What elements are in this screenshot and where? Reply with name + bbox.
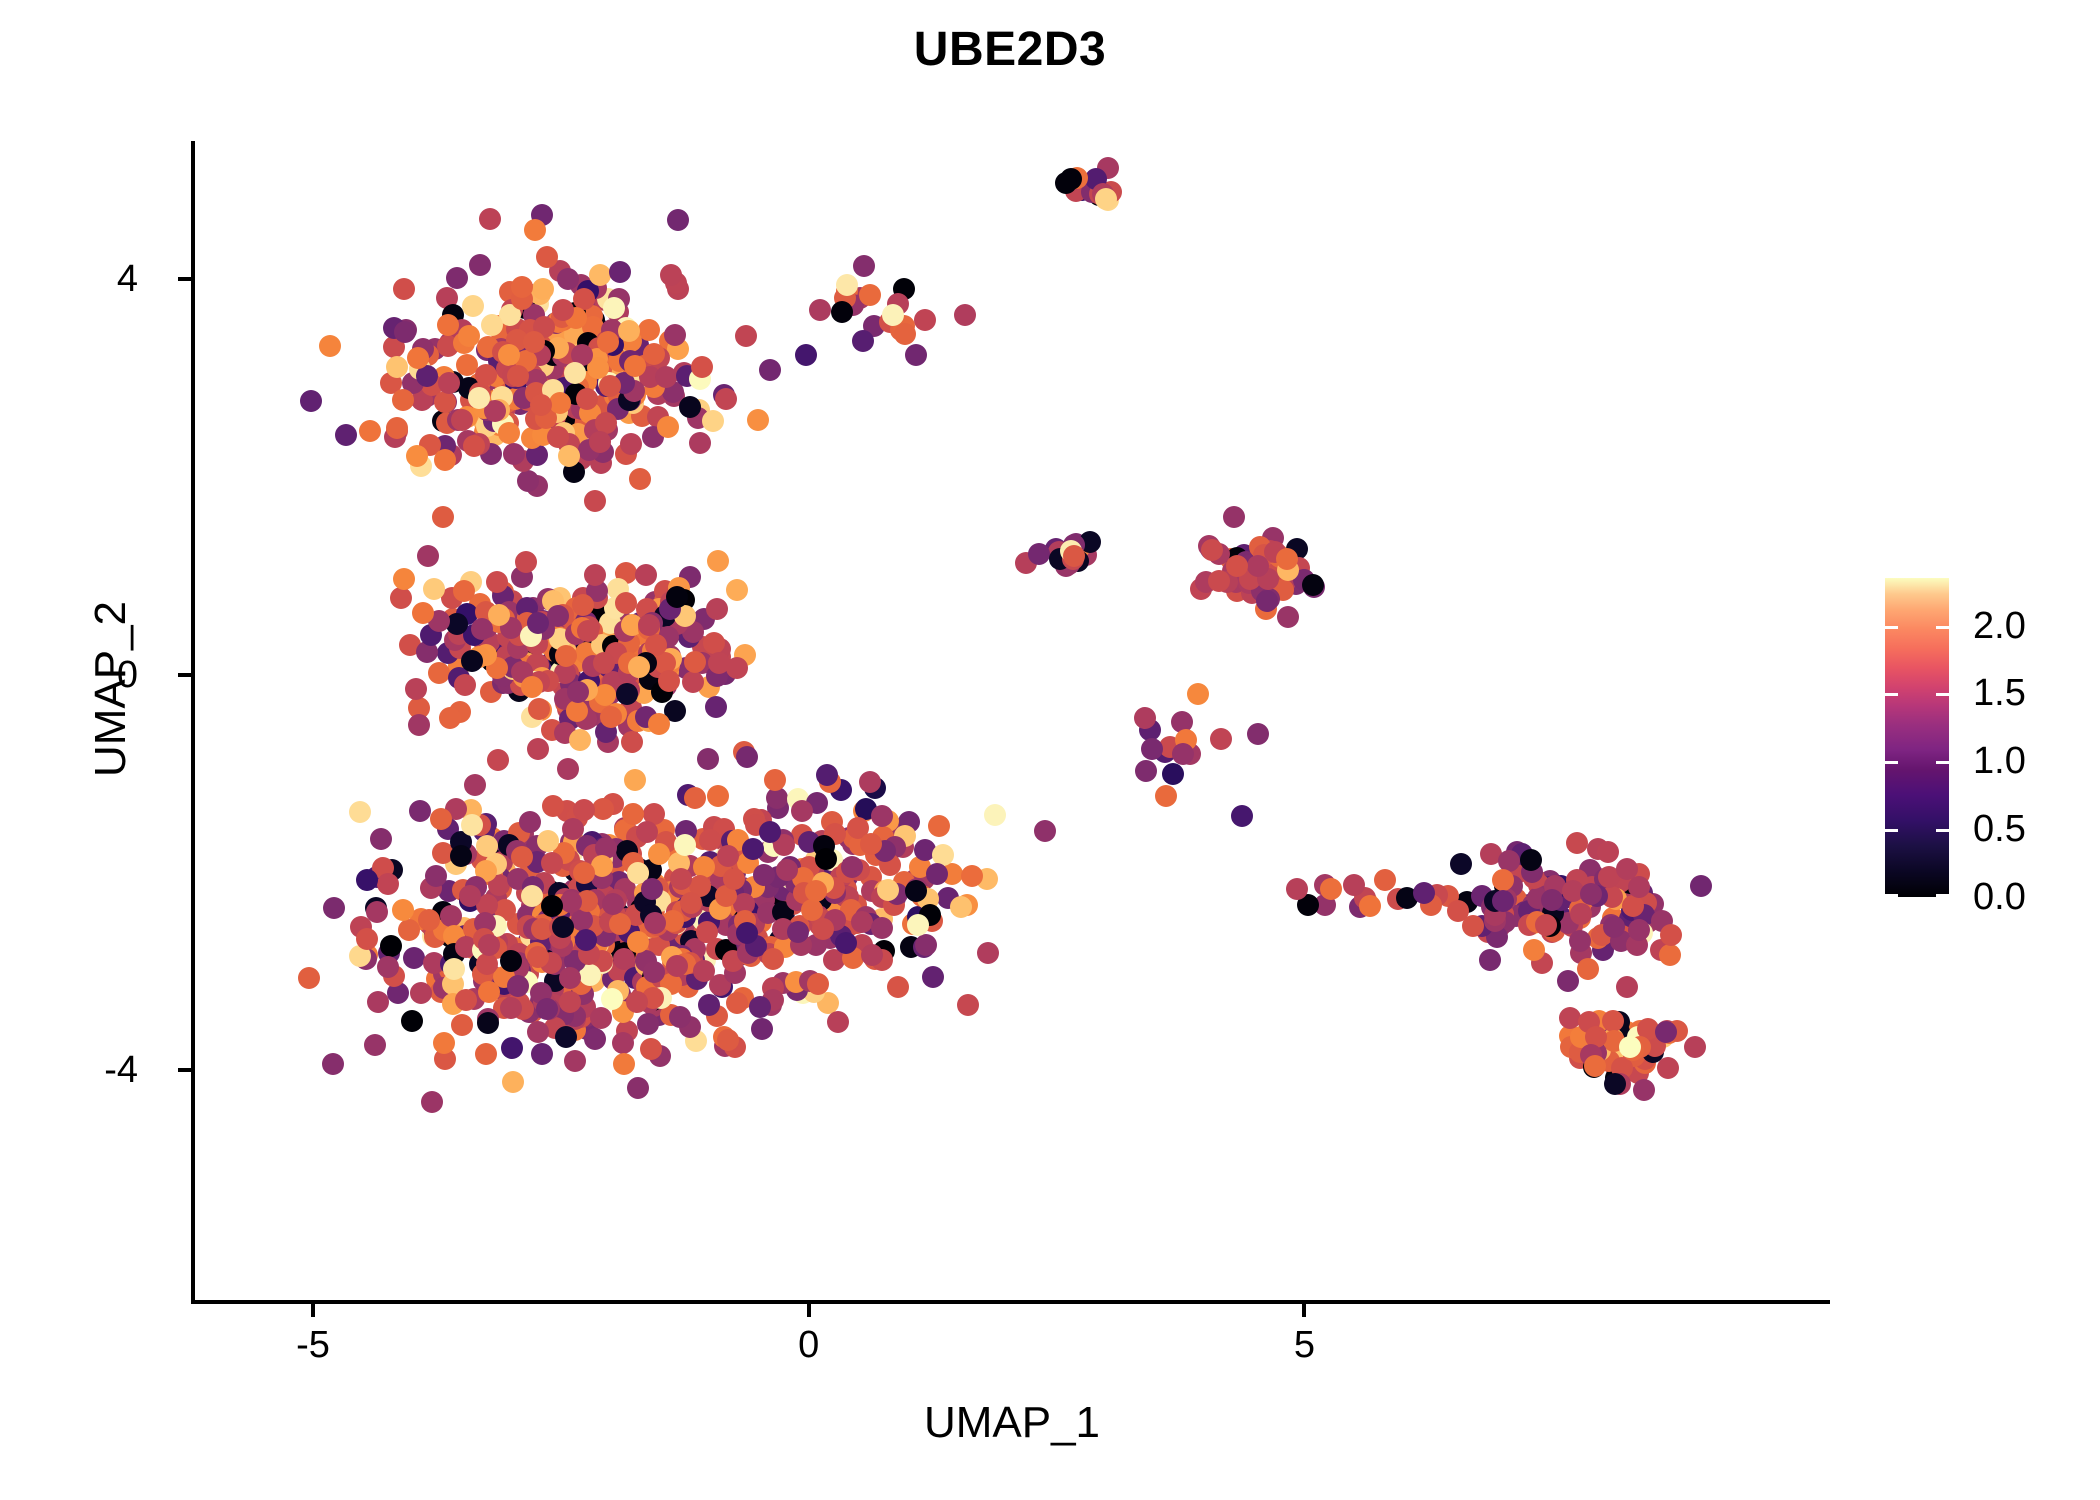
colorbar-tick-label: 1.5 [1973, 674, 2026, 712]
scatter-point [517, 470, 539, 492]
scatter-point [398, 919, 420, 941]
scatter-point [549, 392, 571, 414]
scatter-point [537, 830, 559, 852]
scatter-point [640, 1038, 662, 1060]
plot-panel [194, 141, 1830, 1302]
scatter-point [1479, 949, 1501, 971]
scatter-point [417, 545, 439, 567]
y-tick-mark [178, 673, 191, 677]
scatter-point [696, 921, 718, 943]
scatter-point [1302, 574, 1324, 596]
scatter-point [1450, 853, 1472, 875]
x-axis-title: UMAP_1 [194, 1398, 1830, 1448]
scatter-point [471, 618, 493, 640]
scatter-point [349, 801, 371, 823]
scatter-point [624, 769, 646, 791]
scatter-point [787, 921, 809, 943]
scatter-point [622, 803, 644, 825]
scatter-point [418, 909, 440, 931]
scatter-point [717, 845, 739, 867]
scatter-point [589, 431, 611, 453]
scatter-point [693, 960, 715, 982]
scatter-point [430, 808, 452, 830]
scatter-point [1095, 188, 1117, 210]
scatter-point [511, 276, 533, 298]
scatter-point [459, 885, 481, 907]
scatter-point [950, 896, 972, 918]
scatter-point [621, 731, 643, 753]
y-axis-line [191, 141, 195, 1304]
scatter-point [1231, 805, 1253, 827]
scatter-point [453, 580, 475, 602]
scatter-point [679, 396, 701, 418]
colorbar-tick-label: 0.0 [1973, 878, 2026, 916]
scatter-point [641, 878, 663, 900]
scatter-point [1134, 707, 1156, 729]
colorbar-tick-mark [1885, 761, 1949, 764]
scatter-point [1659, 944, 1681, 966]
scatter-point [682, 671, 704, 693]
scatter-point [423, 578, 445, 600]
scatter-point [1413, 882, 1435, 904]
scatter-point [1256, 590, 1278, 612]
scatter-point [759, 359, 781, 381]
scatter-point [486, 571, 508, 593]
scatter-point [609, 913, 631, 935]
scatter-point [364, 1034, 386, 1056]
scatter-point [1660, 924, 1682, 946]
scatter-point [726, 992, 748, 1014]
scatter-point [699, 829, 721, 851]
scatter-point [1557, 970, 1579, 992]
scatter-point [569, 729, 591, 751]
scatter-point [536, 246, 558, 268]
scatter-point [559, 967, 581, 989]
scatter-point [658, 670, 680, 692]
x-tick-mark [311, 1304, 315, 1317]
scatter-point [562, 818, 584, 840]
scatter-point [1359, 895, 1381, 917]
scatter-point [412, 602, 434, 624]
scatter-point [461, 650, 483, 672]
scatter-point [536, 998, 558, 1020]
colorbar-tick-label: 2.0 [1973, 607, 2026, 645]
scatter-point [558, 445, 580, 467]
scatter-point [705, 696, 727, 718]
scatter-point [408, 714, 430, 736]
scatter-point [841, 856, 863, 878]
umap-feature-plot: UBE2D3 40-4-505 UMAP_1 UMAP_2 2.01.51.00… [0, 0, 2100, 1500]
scatter-point [589, 264, 611, 286]
scatter-point [759, 821, 781, 843]
scatter-point [859, 284, 881, 306]
scatter-point [1034, 820, 1056, 842]
scatter-point [527, 1021, 549, 1043]
scatter-point [515, 551, 537, 573]
scatter-point [547, 605, 569, 627]
scatter-point [1320, 878, 1342, 900]
scatter-point [1162, 763, 1184, 785]
scatter-point [627, 1077, 649, 1099]
scatter-point [1155, 785, 1177, 807]
scatter-point [961, 865, 983, 887]
scatter-point [450, 845, 472, 867]
scatter-point [300, 390, 322, 412]
x-tick-mark [1302, 1304, 1306, 1317]
scatter-point [717, 1029, 739, 1051]
scatter-point [403, 947, 425, 969]
scatter-point [524, 219, 546, 241]
scatter-point [905, 880, 927, 902]
scatter-point [715, 388, 737, 410]
scatter-point [1063, 545, 1085, 567]
scatter-point [438, 372, 460, 394]
scatter-point [323, 897, 345, 919]
scatter-point [428, 662, 450, 684]
scatter-point [1657, 1057, 1679, 1079]
scatter-point [736, 746, 758, 768]
scatter-point [390, 587, 412, 609]
scatter-point [584, 1028, 606, 1050]
scatter-point [507, 365, 529, 387]
scatter-point [827, 1011, 849, 1033]
scatter-point [468, 387, 490, 409]
scatter-point [380, 935, 402, 957]
scatter-point [407, 347, 429, 369]
scatter-point [1541, 889, 1563, 911]
scatter-point [481, 314, 503, 336]
scatter-point [592, 798, 614, 820]
scatter-point [905, 344, 927, 366]
scatter-point [1628, 919, 1650, 941]
scatter-point [667, 209, 689, 231]
scatter-point [451, 1014, 473, 1036]
scatter-point [859, 771, 881, 793]
scatter-point [882, 304, 904, 326]
x-tick-label: 0 [749, 1326, 869, 1364]
scatter-point [666, 586, 688, 608]
scatter-point [1277, 606, 1299, 628]
scatter-point [791, 800, 813, 822]
scatter-point [894, 323, 916, 345]
scatter-point [394, 321, 416, 343]
x-axis-line [194, 1300, 1830, 1304]
scatter-point [600, 706, 622, 728]
scatter-point [613, 948, 635, 970]
scatter-point [684, 787, 706, 809]
scatter-point [1028, 543, 1050, 565]
scatter-point [421, 1091, 443, 1113]
scatter-point [887, 976, 909, 998]
scatter-point [660, 264, 682, 286]
scatter-point [559, 991, 581, 1013]
scatter-point [684, 651, 706, 673]
scatter-point [475, 1043, 497, 1065]
scatter-point [564, 1050, 586, 1072]
x-tick-label: -5 [253, 1326, 373, 1364]
scatter-point [455, 989, 477, 1011]
scatter-point [531, 1043, 553, 1065]
scatter-point [626, 991, 648, 1013]
scatter-point [922, 966, 944, 988]
scatter-point [1684, 1036, 1706, 1058]
scatter-point [615, 592, 637, 614]
scatter-point [521, 885, 543, 907]
scatter-point [1602, 1010, 1624, 1032]
scatter-point [726, 579, 748, 601]
scatter-point [628, 656, 650, 678]
scatter-point [405, 678, 427, 700]
scatter-point [462, 295, 484, 317]
scatter-point [434, 391, 456, 413]
scatter-point [735, 325, 757, 347]
colorbar-tick-label: 1.0 [1973, 742, 2026, 780]
colorbar-tick-mark [1885, 626, 1949, 629]
scatter-point [1135, 760, 1157, 782]
scatter-point [697, 748, 719, 770]
scatter-point [742, 838, 764, 860]
scatter-point [479, 208, 501, 230]
scatter-point [477, 1012, 499, 1034]
scatter-point [410, 982, 432, 1004]
scatter-point [636, 821, 658, 843]
scatter-point [1223, 506, 1245, 528]
scatter-point [1616, 858, 1638, 880]
scatter-point [928, 815, 950, 837]
scatter-point [1276, 548, 1298, 570]
scatter-point [359, 420, 381, 442]
scatter-point [689, 432, 711, 454]
scatter-point [612, 1032, 634, 1054]
scatter-point [464, 774, 486, 796]
scatter-point [392, 389, 414, 411]
scatter-point [440, 905, 462, 927]
scatter-point [425, 865, 447, 887]
page-title: UBE2D3 [0, 22, 2020, 77]
y-tick-mark [178, 1068, 191, 1072]
scatter-point [852, 330, 874, 352]
scatter-point [1633, 1079, 1655, 1101]
scatter-point [454, 674, 476, 696]
scatter-point [557, 268, 579, 290]
colorbar-tick-mark [1885, 693, 1949, 696]
scatter-point [1208, 570, 1230, 592]
scatter-point [957, 994, 979, 1016]
scatter-point [1616, 976, 1638, 998]
scatter-point [644, 912, 666, 934]
scatter-point [555, 645, 577, 667]
scatter-point [915, 934, 937, 956]
scatter-point [498, 422, 520, 444]
scatter-point [1201, 539, 1223, 561]
scatter-point [577, 620, 599, 642]
scatter-point [1492, 890, 1514, 912]
x-tick-label: 5 [1244, 1326, 1364, 1364]
scatter-point [707, 550, 729, 572]
scatter-point [637, 1013, 659, 1035]
scatter-point [1597, 841, 1619, 863]
scatter-point [736, 922, 758, 944]
scatter-point [613, 1053, 635, 1075]
scatter-point [519, 811, 541, 833]
scatter-point [593, 652, 615, 674]
scatter-point [601, 988, 623, 1010]
scatter-point [693, 856, 715, 878]
scatter-point [451, 409, 473, 431]
scatter-point [443, 958, 465, 980]
scatter-point [1619, 1036, 1641, 1058]
scatter-point [629, 468, 651, 490]
scatter-point [648, 843, 670, 865]
scatter-point [831, 301, 853, 323]
scatter-point [1447, 900, 1469, 922]
scatter-point [620, 433, 642, 455]
scatter-point [461, 814, 483, 836]
scatter-point [599, 375, 621, 397]
y-tick-mark [178, 277, 191, 281]
scatter-point [926, 863, 948, 885]
scatter-point [527, 612, 549, 634]
scatter-point [501, 1037, 523, 1059]
scatter-point [836, 274, 858, 296]
scatter-point [618, 320, 640, 342]
scatter-point [747, 409, 769, 431]
scatter-point [555, 1026, 577, 1048]
scatter-point [812, 918, 834, 940]
scatter-point [386, 417, 408, 439]
scatter-point [527, 738, 549, 760]
scatter-point [584, 564, 606, 586]
scatter-point [753, 864, 775, 886]
scatter-point [439, 707, 461, 729]
scatter-point [853, 255, 875, 277]
scatter-point [335, 424, 357, 446]
scatter-point [409, 800, 431, 822]
scatter-point [469, 254, 491, 276]
scatter-point [478, 981, 500, 1003]
scatter-point [434, 449, 456, 471]
scatter-point [706, 598, 728, 620]
scatter-point [657, 416, 679, 438]
scatter-point [432, 506, 454, 528]
scatter-point [392, 899, 414, 921]
scatter-point [487, 749, 509, 771]
scatter-point [984, 804, 1006, 826]
scatter-point [1577, 958, 1599, 980]
scatter-point [1580, 883, 1602, 905]
scatter-point [406, 445, 428, 467]
scatter-point [609, 261, 631, 283]
scatter-point [597, 331, 619, 353]
scatter-point [1187, 683, 1209, 705]
colorbar-tick-label: 0.5 [1973, 810, 2026, 848]
scatter-point [584, 490, 606, 512]
scatter-point [498, 344, 520, 366]
scatter-point [835, 932, 857, 954]
scatter-point [1569, 930, 1591, 952]
scatter-point [1603, 916, 1625, 938]
scatter-point [502, 1071, 524, 1093]
scatter-point [528, 698, 550, 720]
scatter-point [500, 950, 522, 972]
scatter-point [377, 873, 399, 895]
scatter-point [648, 713, 670, 735]
colorbar-tick-mark [1885, 829, 1949, 832]
scatter-point [1141, 738, 1163, 760]
scatter-point [907, 914, 929, 936]
scatter-point [476, 835, 498, 857]
scatter-point [643, 343, 665, 365]
scatter-point [322, 1053, 344, 1075]
scatter-point [298, 967, 320, 989]
scatter-point [1343, 874, 1365, 896]
scatter-point [552, 916, 574, 938]
scatter-point [370, 828, 392, 850]
scatter-point [401, 1010, 423, 1032]
scatter-point [576, 388, 598, 410]
scatter-point [603, 297, 625, 319]
scatter-point [977, 942, 999, 964]
scatter-point [1584, 1055, 1606, 1077]
scatter-point [521, 676, 543, 698]
scatter-point [319, 335, 341, 357]
scatter-point [723, 868, 745, 890]
scatter-point [446, 267, 468, 289]
scatter-point [1566, 832, 1588, 854]
scatter-point [751, 1018, 773, 1040]
scatter-point [669, 1006, 691, 1028]
scatter-point [680, 892, 702, 914]
colorbar-tick-mark [1885, 894, 1949, 897]
scatter-point [702, 410, 724, 432]
scatter-point [954, 304, 976, 326]
scatter-point [674, 834, 696, 856]
scatter-point [393, 278, 415, 300]
scatter-point [914, 309, 936, 331]
scatter-point [1492, 869, 1514, 891]
scatter-point [602, 893, 624, 915]
scatter-point [393, 568, 415, 590]
y-axis-title: UMAP_2 [86, 289, 136, 1089]
scatter-point [871, 805, 893, 827]
scatter-point [707, 785, 729, 807]
scatter-point [762, 948, 784, 970]
scatter-point [503, 443, 525, 465]
scatter-point [795, 344, 817, 366]
scatter-point [463, 435, 485, 457]
scatter-point [557, 758, 579, 780]
scatter-point [552, 299, 574, 321]
scatter-point [807, 973, 829, 995]
scatter-point [861, 944, 883, 966]
scatter-point [809, 299, 831, 321]
scatter-point [488, 604, 510, 626]
scatter-point [532, 278, 554, 300]
scatter-point [635, 564, 657, 586]
scatter-point [367, 991, 389, 1013]
scatter-point [1247, 723, 1269, 745]
x-tick-mark [807, 1304, 811, 1317]
scatter-point [590, 1007, 612, 1029]
scatter-point [1210, 728, 1232, 750]
scatter-point [708, 652, 730, 674]
scatter-point [377, 956, 399, 978]
scatter-point [356, 869, 378, 891]
scatter-point [1690, 875, 1712, 897]
scatter-point [356, 928, 378, 950]
scatter-point [871, 917, 893, 939]
